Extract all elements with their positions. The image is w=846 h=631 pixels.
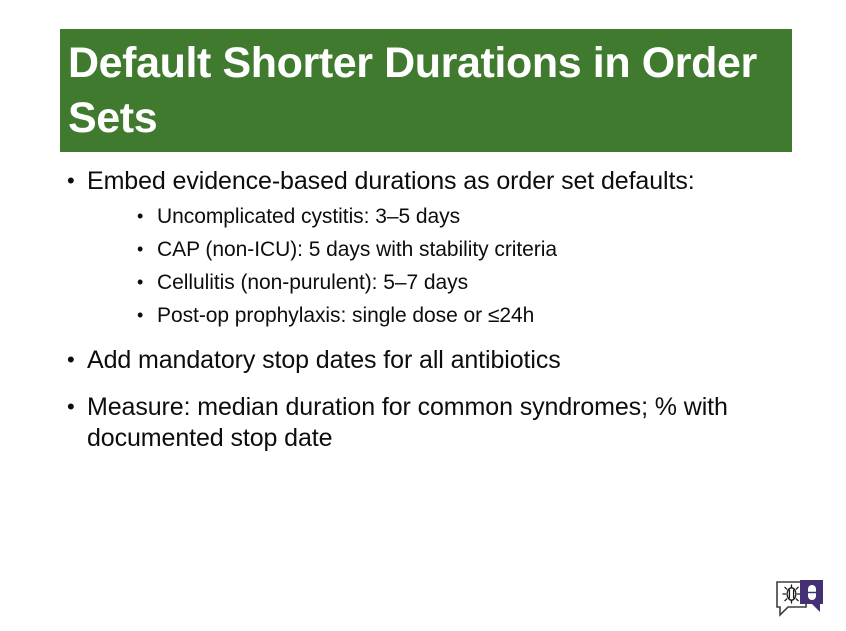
list-item: Measure: median duration for common synd… — [60, 392, 760, 454]
page-title: Default Shorter Durations in Order Sets — [68, 36, 774, 146]
bullet-text: Measure: median duration for common synd… — [87, 392, 760, 454]
list-item: CAP (non-ICU): 5 days with stability cri… — [87, 237, 760, 263]
slide-body: Embed evidence-based durations as order … — [60, 166, 760, 462]
bullet-text: Cellulitis (non-purulent): 5–7 days — [157, 271, 468, 294]
bullet-text: Uncomplicated cystitis: 3–5 days — [157, 205, 460, 228]
list-item: Uncomplicated cystitis: 3–5 days — [87, 204, 760, 230]
bullet-text: CAP (non-ICU): 5 days with stability cri… — [157, 238, 557, 261]
bullet-list: Embed evidence-based durations as order … — [60, 166, 760, 454]
sub-bullet-list: Uncomplicated cystitis: 3–5 days CAP (no… — [87, 204, 760, 329]
bullet-text: Post-op prophylaxis: single dose or ≤24h — [157, 304, 534, 327]
slide-canvas: Default Shorter Durations in Order Sets … — [0, 0, 846, 631]
bullet-text: Add mandatory stop dates for all antibio… — [87, 345, 760, 376]
pill-capsule-icon — [808, 585, 816, 600]
list-item: Embed evidence-based durations as order … — [60, 166, 760, 329]
list-item: Add mandatory stop dates for all antibio… — [60, 345, 760, 376]
bacteria-icon — [783, 585, 800, 603]
list-item: Cellulitis (non-purulent): 5–7 days — [87, 270, 760, 296]
list-item: Post-op prophylaxis: single dose or ≤24h — [87, 303, 760, 329]
bullet-text: Embed evidence-based durations as order … — [87, 166, 760, 197]
slide-title-banner: Default Shorter Durations in Order Sets — [60, 29, 792, 152]
antimicrobial-stewardship-logo — [775, 578, 825, 623]
